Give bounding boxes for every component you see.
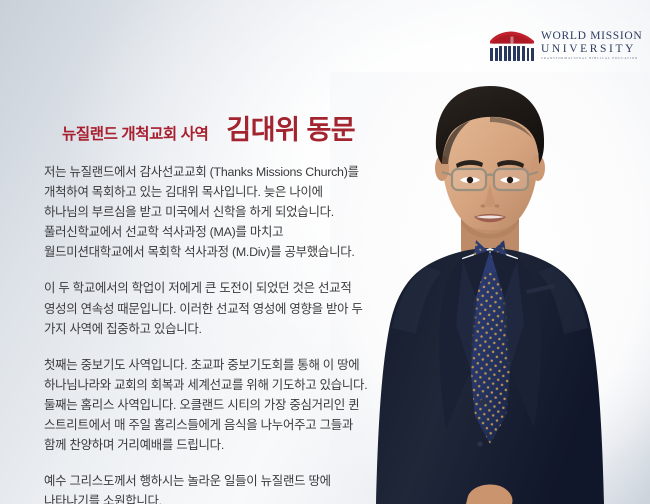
- body-paragraph-1: 저는 뉴질랜드에서 감사선교교회 (Thanks Missions Church…: [44, 162, 369, 262]
- body-paragraph-3: 첫째는 중보기도 사역입니다. 초교파 중보기도회를 통해 이 땅에 하나님나라…: [44, 355, 369, 455]
- logo-tagline: TRANSFORMATIONAL BIBLICAL EDUCATION: [541, 57, 642, 60]
- headline: 뉴질랜드 개척교회 사역 김대위 동문: [62, 108, 355, 147]
- logo-line-world-mission: WORLD MISSION: [541, 31, 642, 43]
- logo-mark: [489, 29, 535, 62]
- university-logo: WORLD MISSION UNIVERSITY TRANSFORMATIONA…: [489, 27, 637, 63]
- body-paragraph-4: 예수 그리스도께서 행하시는 놀라운 일들이 뉴질랜드 땅에 나타나기를 소원합…: [44, 471, 369, 504]
- logo-wing-icon: [489, 30, 535, 45]
- logo-columns-icon: [490, 46, 534, 61]
- portrait-photo: [330, 72, 650, 504]
- body-paragraph-2: 이 두 학교에서의 학업이 저에게 큰 도전이 되었던 것은 선교적 영성의 연…: [44, 278, 369, 338]
- headline-subtitle: 뉴질랜드 개척교회 사역: [62, 122, 208, 144]
- logo-wordmark: WORLD MISSION UNIVERSITY TRANSFORMATIONA…: [541, 30, 642, 61]
- body-copy: 저는 뉴질랜드에서 감사선교교회 (Thanks Missions Church…: [44, 162, 369, 504]
- logo-line-university: UNIVERSITY: [541, 44, 642, 56]
- slide-canvas: WORLD MISSION UNIVERSITY TRANSFORMATIONA…: [0, 0, 650, 504]
- headline-alumnus-name: 김대위 동문: [226, 108, 355, 147]
